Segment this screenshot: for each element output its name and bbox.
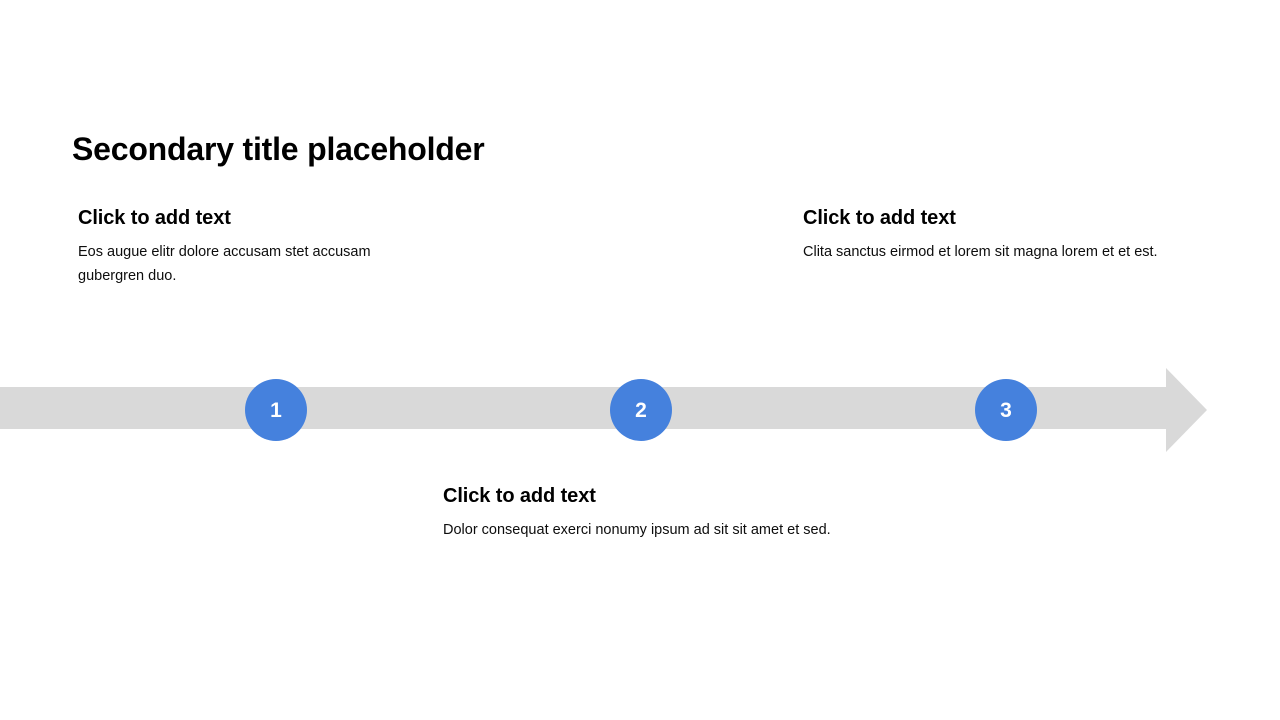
timeline-step-label: 1	[270, 400, 282, 421]
timeline-step-1[interactable]: 1	[245, 379, 307, 441]
timeline-step-2[interactable]: 2	[610, 379, 672, 441]
timeline-step-label: 2	[635, 400, 647, 421]
page-title[interactable]: Secondary title placeholder	[72, 129, 1212, 169]
timeline-step-3[interactable]: 3	[975, 379, 1037, 441]
text-block-body[interactable]: Clita sanctus eirmod et lorem sit magna …	[803, 240, 1203, 264]
timeline-step-label: 3	[1000, 400, 1012, 421]
text-block-bottom-center[interactable]: Click to add text Dolor consequat exerci…	[443, 483, 843, 542]
right-arrow-icon	[1166, 368, 1207, 452]
text-block-top-left[interactable]: Click to add text Eos augue elitr dolore…	[78, 205, 423, 288]
text-block-heading[interactable]: Click to add text	[803, 205, 1203, 231]
text-block-heading[interactable]: Click to add text	[443, 483, 843, 509]
text-block-heading[interactable]: Click to add text	[78, 205, 423, 231]
text-block-body[interactable]: Dolor consequat exerci nonumy ipsum ad s…	[443, 518, 843, 542]
slide-canvas: Secondary title placeholder Click to add…	[0, 0, 1280, 720]
text-block-top-right[interactable]: Click to add text Clita sanctus eirmod e…	[803, 205, 1203, 264]
text-block-body[interactable]: Eos augue elitr dolore accusam stet accu…	[78, 240, 423, 288]
